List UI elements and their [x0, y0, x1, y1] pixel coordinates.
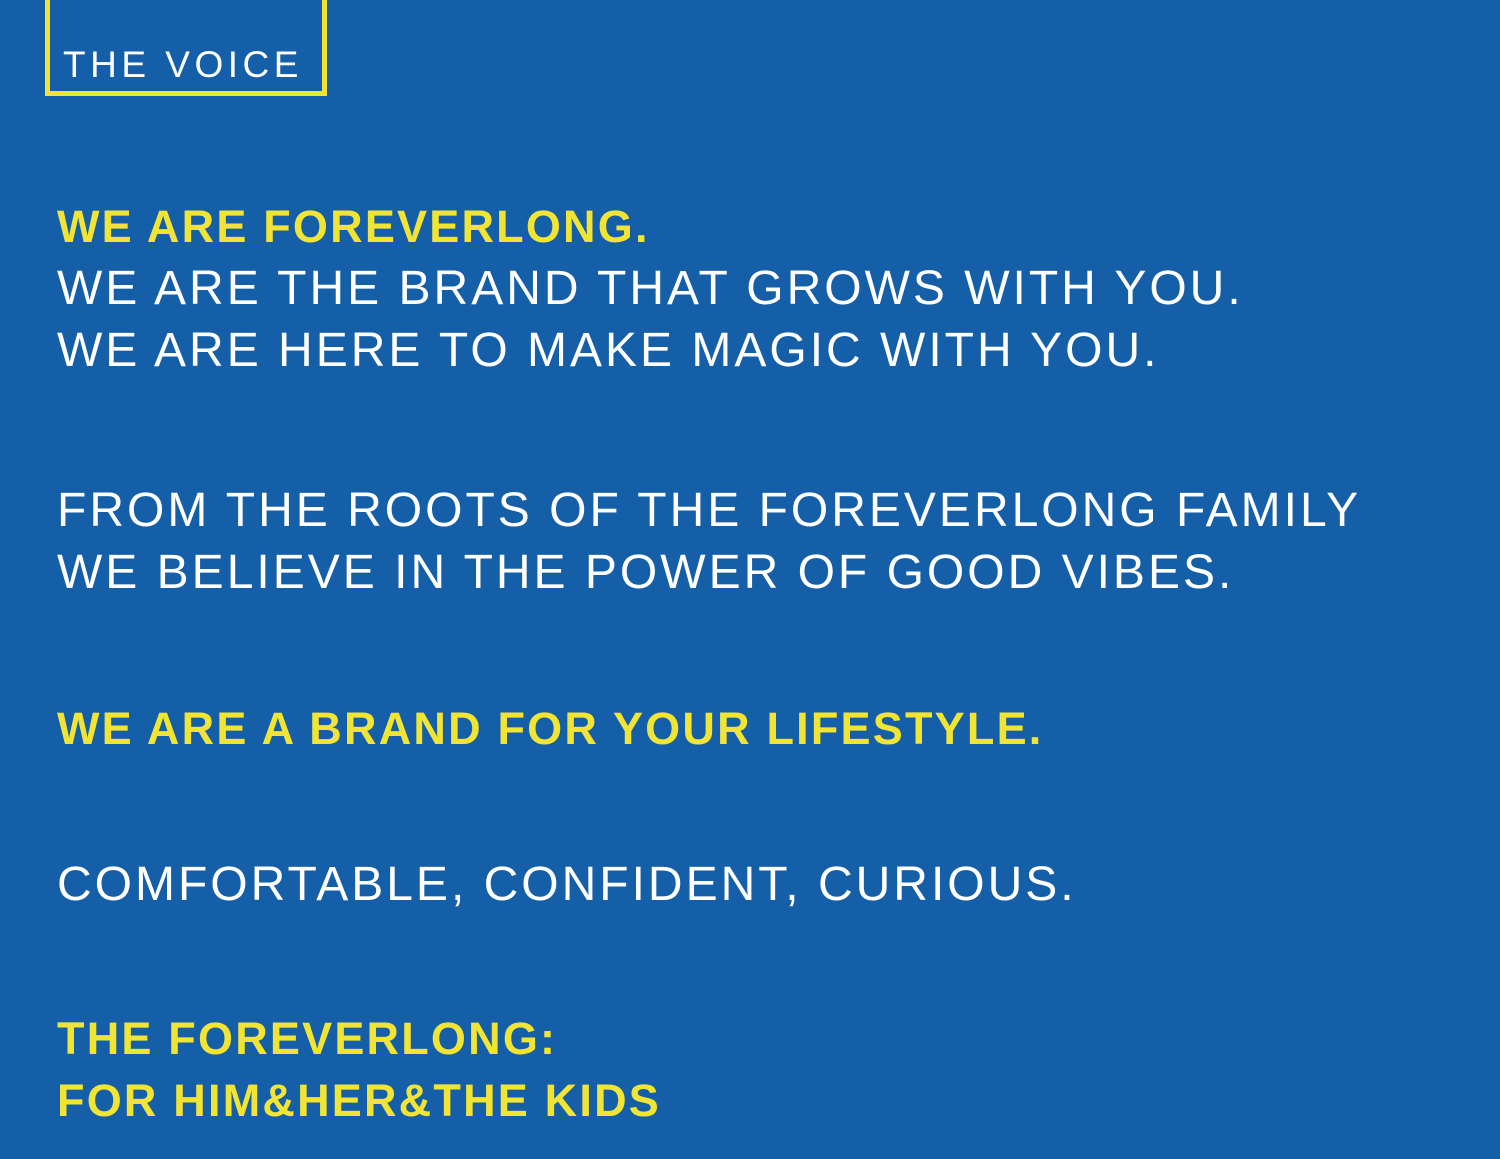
body-line-brand-grows: WE ARE THE BRAND THAT GROWS WITH YOU. [57, 258, 1447, 320]
headline-for-him-her-kids: FOR HIM&HER&THE KIDS [57, 1070, 1447, 1132]
headline-brand-for-lifestyle: WE ARE A BRAND FOR YOUR LIFESTYLE. [57, 698, 1447, 760]
stanza-1: WE ARE FOREVERLONG. WE ARE THE BRAND THA… [57, 196, 1447, 382]
body-line-roots-family: FROM THE ROOTS OF THE FOREVERLONG FAMILY [57, 480, 1447, 542]
stanza-gap-2 [57, 604, 1447, 698]
section-label-box: THE VOICE [45, 0, 327, 96]
stanza-5: THE FOREVERLONG: FOR HIM&HER&THE KIDS [57, 1008, 1447, 1132]
voice-copy-block: WE ARE FOREVERLONG. WE ARE THE BRAND THA… [57, 196, 1447, 1132]
headline-the-foreverlong: THE FOREVERLONG: [57, 1008, 1447, 1070]
body-line-make-magic: WE ARE HERE TO MAKE MAGIC WITH YOU. [57, 320, 1447, 382]
section-label-text: THE VOICE [50, 46, 303, 83]
stanza-3: WE ARE A BRAND FOR YOUR LIFESTYLE. [57, 698, 1447, 760]
body-line-good-vibes: WE BELIEVE IN THE POWER OF GOOD VIBES. [57, 542, 1447, 604]
stanza-2: FROM THE ROOTS OF THE FOREVERLONG FAMILY… [57, 480, 1447, 604]
stanza-gap-1 [57, 382, 1447, 480]
headline-we-are-foreverlong: WE ARE FOREVERLONG. [57, 196, 1447, 258]
body-line-comfortable-confident-curious: COMFORTABLE, CONFIDENT, CURIOUS. [57, 854, 1447, 916]
stanza-4: COMFORTABLE, CONFIDENT, CURIOUS. [57, 854, 1447, 916]
stanza-gap-3 [57, 760, 1447, 854]
slide-canvas: THE VOICE WE ARE FOREVERLONG. WE ARE THE… [0, 0, 1500, 1159]
stanza-gap-4 [57, 916, 1447, 1008]
